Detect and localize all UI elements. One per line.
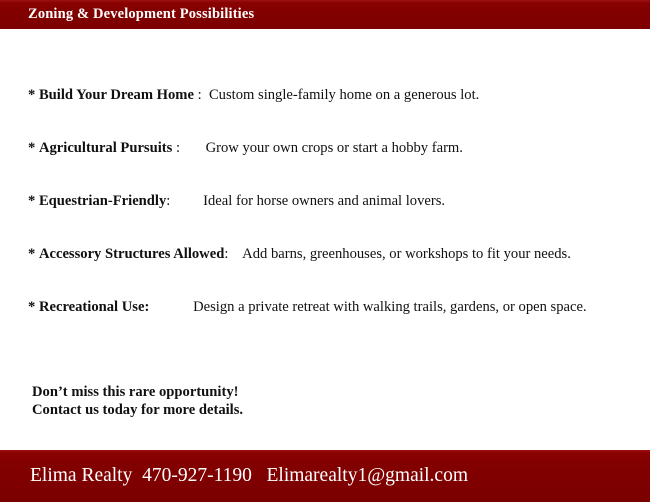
page-title: Zoning & Development Possibilities (28, 7, 254, 22)
closing-call-to-action: Don’t miss this rare opportunity! Contac… (32, 384, 243, 419)
list-item: * Accessory Structures Allowed: Add barn… (28, 247, 638, 300)
footer-banner: Elima Realty 470-927-1190 Elimarealty1@g… (0, 450, 650, 502)
flyer-page: Zoning & Development Possibilities * Bui… (0, 0, 650, 502)
bullet-separator: : (224, 246, 242, 262)
list-item: * Agricultural Pursuits : Grow your own … (28, 141, 638, 194)
closing-line-1: Don’t miss this rare opportunity! (32, 384, 243, 402)
list-item: * Equestrian-Friendly: Ideal for horse o… (28, 194, 638, 247)
bullet-separator: : (194, 87, 209, 103)
bullet-term: Recreational Use: (39, 299, 149, 315)
bullet-separator: : (172, 140, 205, 156)
bullet-term: Agricultural Pursuits (39, 140, 172, 156)
bullet-marker-icon: * (28, 246, 35, 262)
list-item: * Build Your Dream Home : Custom single-… (28, 88, 638, 141)
list-item: * Recreational Use: Design a private ret… (28, 300, 638, 353)
bullet-term: Equestrian-Friendly (39, 193, 166, 209)
footer-contact-text: Elima Realty 470-927-1190 Elimarealty1@g… (30, 466, 468, 486)
header-banner: Zoning & Development Possibilities (0, 0, 650, 29)
bullet-term: Accessory Structures Allowed (39, 246, 224, 262)
bullet-description: Design a private retreat with walking tr… (193, 299, 587, 315)
bullet-description: Add barns, greenhouses, or workshops to … (242, 246, 571, 262)
zoning-bullet-list: * Build Your Dream Home : Custom single-… (28, 88, 638, 353)
bullet-description: Custom single-family home on a generous … (209, 87, 479, 103)
bullet-marker-icon: * (28, 299, 35, 315)
body-content: * Build Your Dream Home : Custom single-… (0, 29, 650, 450)
closing-line-2: Contact us today for more details. (32, 402, 243, 420)
bullet-description: Ideal for horse owners and animal lovers… (203, 193, 445, 209)
bullet-separator: : (166, 193, 203, 209)
bullet-term: Build Your Dream Home (39, 87, 194, 103)
bullet-description: Grow your own crops or start a hobby far… (206, 140, 463, 156)
bullet-marker-icon: * (28, 87, 35, 103)
bullet-marker-icon: * (28, 140, 35, 156)
bullet-marker-icon: * (28, 193, 35, 209)
bullet-separator (149, 299, 193, 315)
